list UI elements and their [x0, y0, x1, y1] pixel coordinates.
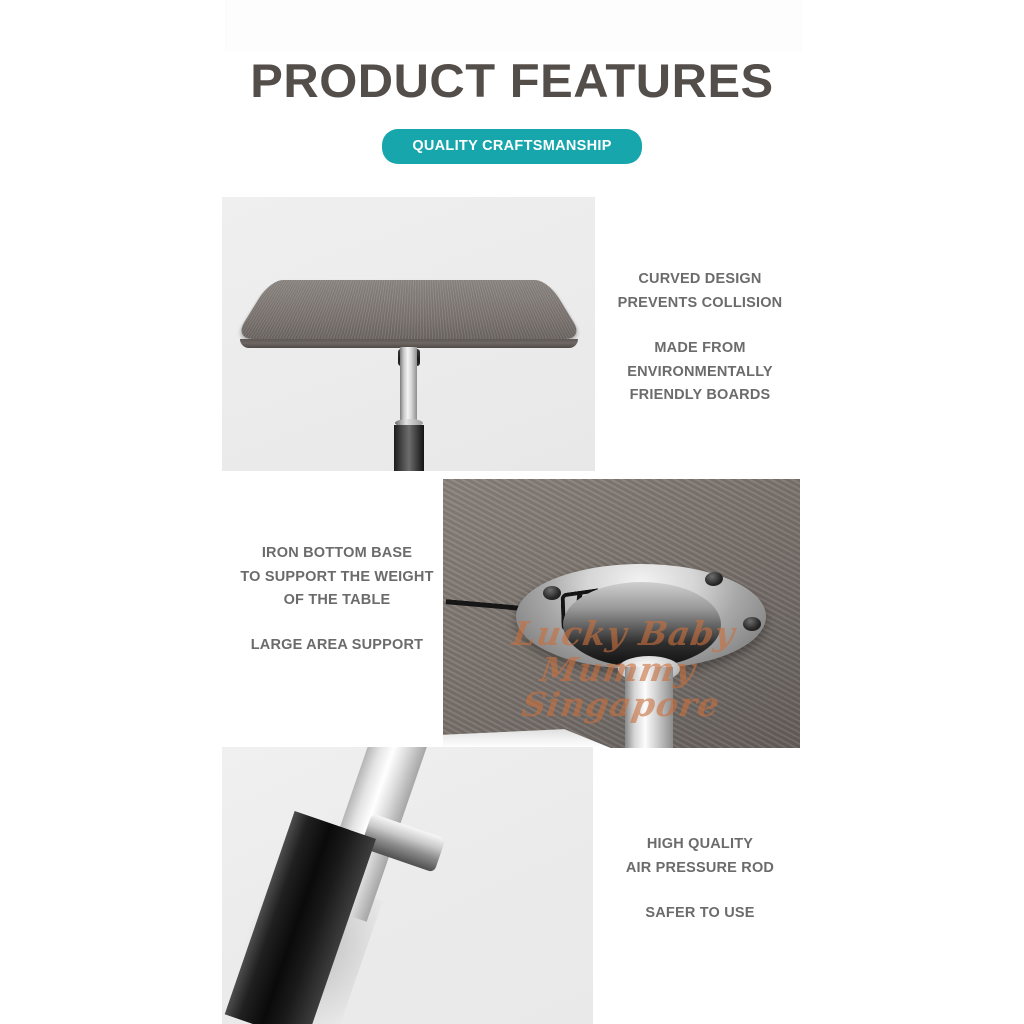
flange-screw	[743, 617, 761, 631]
feature-photo-air-pressure-rod	[222, 747, 593, 1024]
pole-chrome-section	[400, 347, 417, 425]
feature-text-line: IRON BOTTOM BASE	[222, 542, 452, 566]
feature-text-large-area-support: LARGE AREA SUPPORT	[222, 634, 452, 658]
pole-black-section	[394, 425, 424, 471]
table-top-surface	[234, 280, 584, 339]
feature-text-line: MADE FROM	[585, 337, 815, 361]
feature-text-line: FRIENDLY BOARDS	[585, 384, 815, 408]
feature-text-line: PREVENTS COLLISION	[585, 292, 815, 316]
feature-text-line: AIR PRESSURE ROD	[585, 857, 815, 881]
feature-text-line: OF THE TABLE	[222, 589, 452, 613]
feature-text-line: SAFER TO USE	[585, 902, 815, 926]
product-features-page: PRODUCT FEATURES QUALITY CRAFTSMANSHIP C…	[0, 0, 1024, 1024]
background-panel	[225, 0, 802, 52]
feature-text-line: CURVED DESIGN	[585, 268, 815, 292]
feature-text-safer-to-use: SAFER TO USE	[585, 902, 815, 926]
feature-photo-iron-bottom-base: Lucky Baby Mummy Singapore	[443, 479, 800, 748]
feature-text-eco-boards: MADE FROM ENVIRONMENTALLY FRIENDLY BOARD…	[585, 337, 815, 408]
feature-text-line: LARGE AREA SUPPORT	[222, 634, 452, 658]
badge-container: QUALITY CRAFTSMANSHIP	[0, 129, 1024, 164]
feature-text-line: TO SUPPORT THE WEIGHT	[222, 566, 452, 590]
feature-photo-curved-design	[222, 197, 595, 471]
flange-inner-cone	[563, 582, 721, 667]
support-shaft	[625, 667, 673, 748]
flange-screw	[543, 586, 561, 600]
feature-text-iron-bottom-base: IRON BOTTOM BASE TO SUPPORT THE WEIGHT O…	[222, 542, 452, 613]
quality-craftsmanship-badge: QUALITY CRAFTSMANSHIP	[382, 129, 641, 164]
feature-text-curved-design: CURVED DESIGN PREVENTS COLLISION	[585, 268, 815, 315]
feature-text-air-pressure-rod: HIGH QUALITY AIR PRESSURE ROD	[585, 833, 815, 880]
feature-text-line: ENVIRONMENTALLY	[585, 361, 815, 385]
feature-text-line: HIGH QUALITY	[585, 833, 815, 857]
page-title: PRODUCT FEATURES	[0, 52, 1024, 110]
